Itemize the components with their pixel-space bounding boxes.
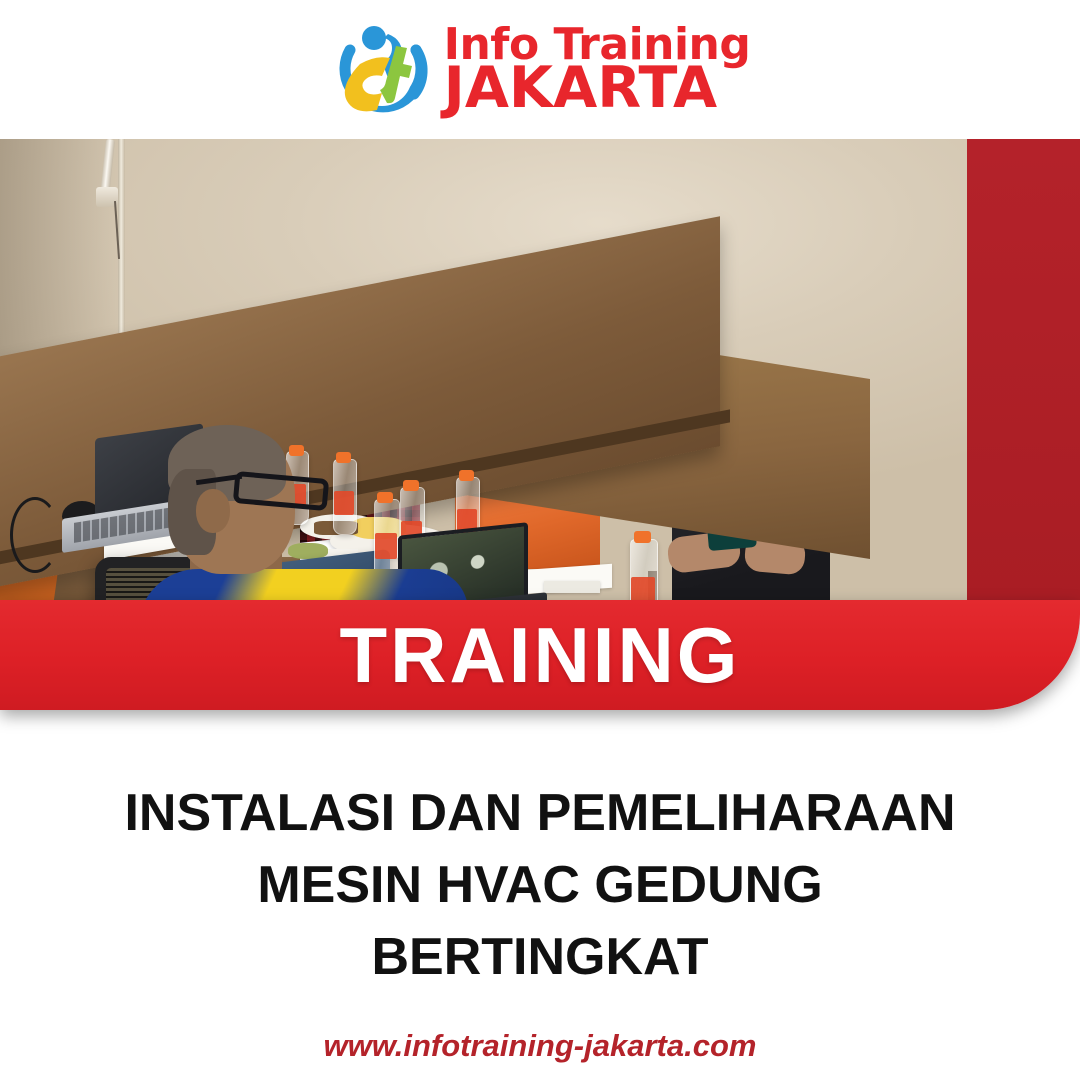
- brand-line-2: JAKARTA: [444, 62, 751, 114]
- person-p5-coverall: [138, 569, 468, 604]
- website-url[interactable]: www.infotraining-jakarta.com: [0, 1028, 1080, 1064]
- bottle-cap: [634, 531, 651, 543]
- poster-root: Info Training JAKARTA: [0, 0, 1080, 1080]
- bottle-label: [375, 533, 397, 559]
- papers-right-2: [544, 581, 600, 593]
- course-title-line-1: INSTALASI DAN PEMELIHARAAN: [60, 778, 1020, 850]
- bottle-cap: [336, 452, 351, 463]
- course-title: INSTALASI DAN PEMELIHARAAN MESIN HVAC GE…: [60, 778, 1020, 993]
- brand-logo[interactable]: Info Training JAKARTA: [330, 16, 751, 124]
- training-banner: TRAINING: [0, 600, 1080, 710]
- info-training-jakarta-logo-mark: [330, 16, 434, 124]
- photo-canvas: [0, 139, 967, 604]
- banner-label: TRAINING: [340, 616, 741, 694]
- bottle-cap: [403, 480, 419, 491]
- person-p5-ear: [196, 489, 230, 533]
- course-title-line-3: BERTINGKAT: [60, 922, 1020, 994]
- bottle-cap: [459, 470, 474, 481]
- red-side-bar: [967, 139, 1080, 604]
- course-title-line-2: MESIN HVAC GEDUNG: [60, 850, 1020, 922]
- header-bar: Info Training JAKARTA: [0, 0, 1080, 139]
- bottle-label: [334, 491, 354, 515]
- bottle-cap: [289, 445, 304, 456]
- bottle-cap: [377, 492, 393, 503]
- brand-wordmark: Info Training JAKARTA: [444, 25, 751, 114]
- power-cable: [10, 497, 60, 573]
- training-photo: [0, 139, 1080, 604]
